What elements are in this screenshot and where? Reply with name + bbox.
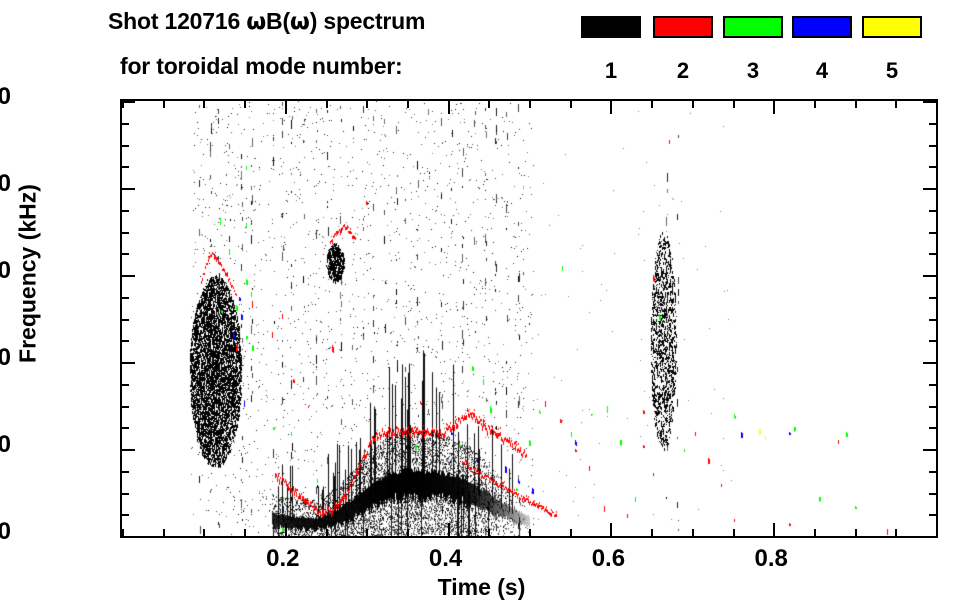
y-tick-right-95: [929, 123, 936, 125]
x-tick-0.00: [122, 101, 124, 108]
legend-swatch-n4: [792, 16, 852, 38]
legend-label-n2: 2: [653, 58, 713, 84]
x-tick-label-0.2: 0.2: [243, 545, 323, 573]
spectrogram-plot-area[interactable]: [122, 101, 936, 536]
x-tick-0.40: [448, 101, 450, 114]
x-tick-top-0.50: [529, 529, 531, 536]
y-tick-right-65: [929, 253, 936, 255]
y-tick-label-80: 80: [0, 170, 11, 198]
x-axis-title: Time (s): [0, 574, 963, 601]
y-tick-85: [122, 166, 129, 168]
y-tick-right-55: [929, 297, 936, 299]
x-tick-0.80: [773, 101, 775, 114]
y-tick-55: [122, 297, 129, 299]
x-tick-0.10: [203, 101, 205, 108]
x-tick-0.45: [488, 101, 490, 108]
y-tick-0: [122, 536, 135, 538]
x-tick-0.05: [163, 101, 165, 108]
x-tick-top-0.15: [244, 529, 246, 536]
x-tick-top-0.55: [570, 529, 572, 536]
y-tick-40: [122, 362, 135, 364]
x-tick-top-0.95: [895, 529, 897, 536]
legend-title: for toroidal mode number:: [120, 53, 403, 80]
x-tick-0.25: [326, 101, 328, 108]
y-tick-label-40: 40: [0, 344, 11, 372]
y-tick-right-5: [929, 514, 936, 516]
y-tick-right-85: [929, 166, 936, 168]
y-tick-right-45: [929, 340, 936, 342]
legend-label-n4: 4: [792, 58, 852, 84]
legend-label-n5: 5: [862, 58, 922, 84]
y-tick-label-60: 60: [0, 257, 11, 285]
x-tick-label-0.4: 0.4: [406, 545, 486, 573]
y-tick-35: [122, 384, 129, 386]
y-tick-right-20: [923, 449, 936, 451]
legend-swatch-n1: [581, 16, 641, 38]
x-tick-0.65: [651, 101, 653, 108]
y-tick-label-20: 20: [0, 431, 11, 459]
x-tick-0.55: [570, 101, 572, 108]
omega-symbol-2: ω: [290, 9, 310, 35]
legend-label-n1: 1: [581, 58, 641, 84]
x-tick-0.30: [366, 101, 368, 108]
x-tick-0.15: [244, 101, 246, 108]
x-tick-0.20: [285, 101, 287, 114]
x-tick-label-0.6: 0.6: [568, 545, 648, 573]
spectrogram-figure: Shot 120716 ωB(ω) spectrum for toroidal …: [0, 0, 963, 615]
legend-label-n3: 3: [723, 58, 783, 84]
y-tick-right-0: [923, 536, 936, 538]
y-tick-label-0: 0: [0, 518, 11, 546]
x-tick-top-0.30: [366, 529, 368, 536]
legend-swatch-n3: [723, 16, 783, 38]
x-tick-top-0.65: [651, 529, 653, 536]
x-tick-0.85: [814, 101, 816, 108]
x-tick-0.90: [855, 101, 857, 108]
x-tick-0.35: [407, 101, 409, 108]
y-tick-5: [122, 514, 129, 516]
y-tick-90: [122, 145, 129, 147]
y-tick-75: [122, 210, 129, 212]
y-tick-right-90: [929, 145, 936, 147]
y-tick-50: [122, 319, 129, 321]
x-tick-1.00: [936, 101, 938, 108]
y-tick-65: [122, 253, 129, 255]
y-tick-right-60: [923, 275, 936, 277]
x-tick-top-0.80: [773, 523, 775, 536]
y-tick-30: [122, 406, 129, 408]
x-tick-top-0.20: [285, 523, 287, 536]
y-tick-25: [122, 427, 129, 429]
y-tick-right-100: [923, 101, 936, 103]
x-tick-0.70: [692, 101, 694, 108]
y-axis-title: Frequency (kHz): [15, 149, 42, 399]
x-tick-0.50: [529, 101, 531, 108]
x-tick-0.60: [610, 101, 612, 114]
title-prefix: Shot 120716: [108, 8, 246, 34]
y-tick-70: [122, 232, 129, 234]
x-tick-top-1.00: [936, 529, 938, 536]
x-tick-top-0.75: [733, 529, 735, 536]
y-tick-95: [122, 123, 129, 125]
y-tick-right-30: [929, 406, 936, 408]
y-tick-right-80: [923, 188, 936, 190]
y-tick-10: [122, 493, 129, 495]
x-tick-top-0.70: [692, 529, 694, 536]
x-tick-top-0.60: [610, 523, 612, 536]
y-tick-right-50: [929, 319, 936, 321]
y-tick-45: [122, 340, 129, 342]
y-tick-right-15: [929, 471, 936, 473]
y-tick-right-10: [929, 493, 936, 495]
y-tick-right-35: [929, 384, 936, 386]
legend-swatch-n5: [862, 16, 922, 38]
figure-title-line-1: Shot 120716 ωB(ω) spectrum: [108, 8, 425, 35]
x-tick-top-0.45: [488, 529, 490, 536]
title-suffix: ) spectrum: [310, 8, 426, 34]
y-tick-right-70: [929, 232, 936, 234]
x-tick-top-0.00: [122, 529, 124, 536]
x-tick-top-0.85: [814, 529, 816, 536]
y-tick-20: [122, 449, 135, 451]
y-tick-60: [122, 275, 135, 277]
plot-frame: [120, 99, 938, 538]
x-tick-top-0.05: [163, 529, 165, 536]
x-tick-0.95: [895, 101, 897, 108]
y-tick-right-40: [923, 362, 936, 364]
title-mid: B(: [266, 8, 290, 34]
y-tick-right-75: [929, 210, 936, 212]
y-tick-right-25: [929, 427, 936, 429]
legend-swatch-n2: [653, 16, 713, 38]
x-tick-top-0.40: [448, 523, 450, 536]
y-tick-label-100: 100: [0, 83, 11, 111]
x-tick-top-0.35: [407, 529, 409, 536]
x-tick-top-0.10: [203, 529, 205, 536]
x-tick-top-0.25: [326, 529, 328, 536]
x-tick-top-0.90: [855, 529, 857, 536]
y-tick-80: [122, 188, 135, 190]
omega-symbol-1: ω: [246, 9, 266, 35]
x-tick-0.75: [733, 101, 735, 108]
y-tick-15: [122, 471, 129, 473]
x-tick-label-0.8: 0.8: [731, 545, 811, 573]
